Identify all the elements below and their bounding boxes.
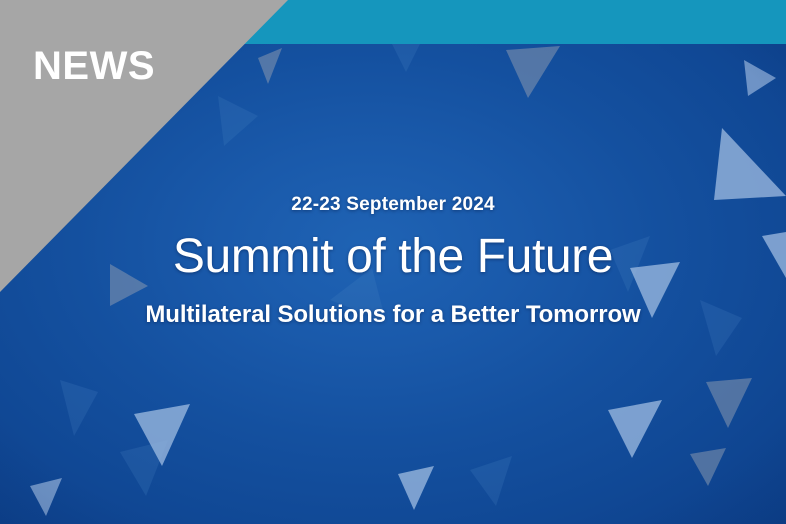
news-badge-label: NEWS: [33, 46, 155, 86]
news-card: NEWS 22-23 September 2024 Summit of the …: [0, 0, 786, 524]
